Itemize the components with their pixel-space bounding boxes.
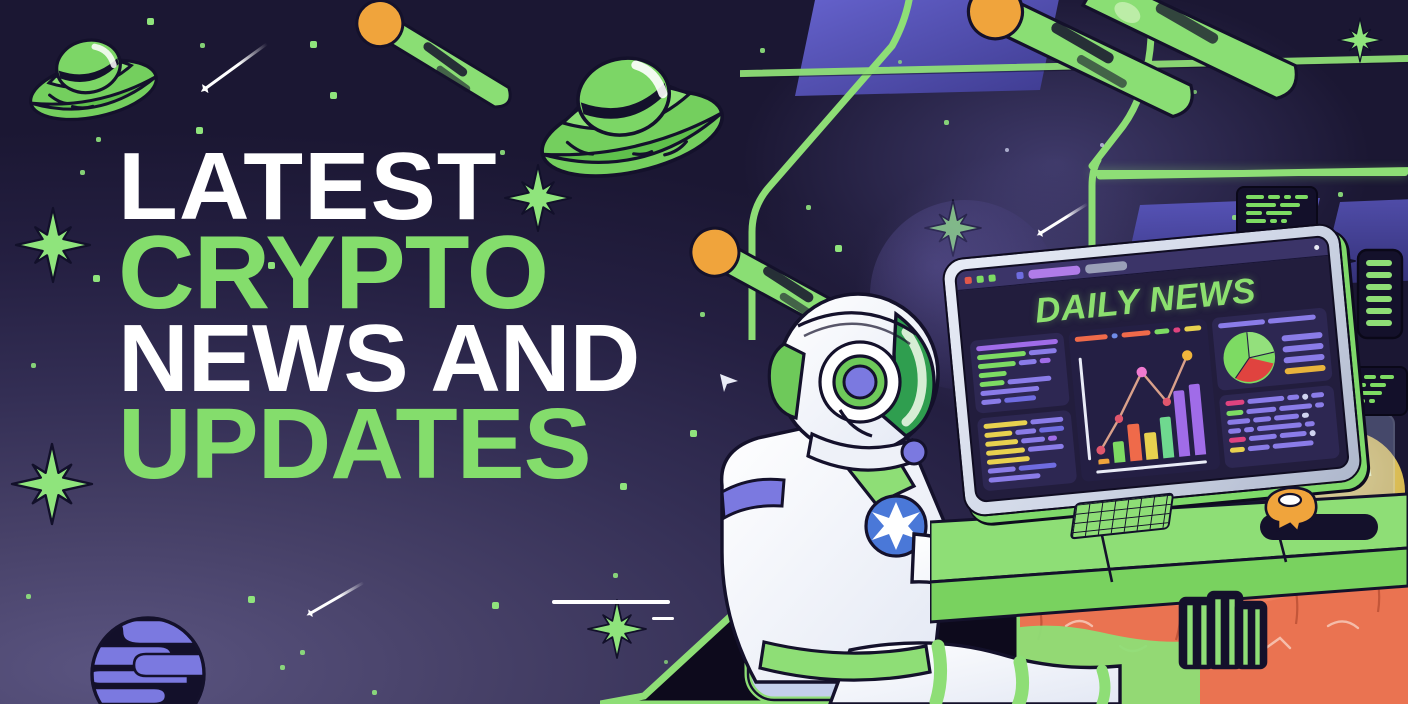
dashboard-body: [962, 301, 1348, 499]
dashboard-center-column: [1068, 319, 1221, 482]
star-dot: [200, 43, 205, 48]
green-canisters: [1178, 586, 1274, 670]
star-dot: [31, 363, 36, 368]
star-dot: [492, 602, 499, 609]
star-dot: [898, 60, 902, 64]
star-dot: [26, 594, 31, 599]
allocation-pie-chart: [1219, 327, 1280, 388]
star-dot: [80, 170, 85, 175]
star-dot: [280, 665, 285, 670]
star-dot: [96, 137, 101, 142]
comet-mid-right: [1030, 0, 1320, 140]
star-dot: [310, 41, 317, 48]
station-beam-horizontal: [1090, 170, 1408, 176]
star-dot: [372, 690, 377, 695]
sparkle-star-icon: [1338, 18, 1382, 62]
alerts-panel[interactable]: [977, 410, 1077, 492]
ticker-table-panel[interactable]: [1219, 385, 1340, 468]
banner-canvas: LATEST CRYPTO NEWS AND UPDATES: [0, 0, 1408, 704]
comet-top-left: [330, 0, 530, 130]
market-trend-markers: [1078, 339, 1212, 473]
orange-desk-gadget: [1258, 480, 1324, 536]
chart-plot-area: [1078, 339, 1211, 465]
headline-line-4: UPDATES: [118, 401, 639, 487]
ufo-top-left: [22, 28, 162, 134]
window-maximize-dot[interactable]: [988, 274, 996, 282]
menu-dot[interactable]: [1314, 244, 1319, 249]
sparkle-star-icon: [16, 208, 90, 282]
star-dot: [806, 205, 811, 210]
star-dot: [248, 596, 255, 603]
star-dot: [93, 275, 100, 282]
dashboard-left-column: [969, 332, 1077, 491]
monitor-screen: DAILY NEWS: [954, 235, 1350, 503]
allocation-panel[interactable]: [1212, 307, 1333, 390]
tab-indicator[interactable]: [1016, 271, 1024, 279]
star-dot: [1338, 192, 1343, 197]
dashboard-right-column: [1212, 307, 1341, 468]
star-dot: [690, 430, 697, 437]
star-dot: [147, 18, 154, 25]
monitor[interactable]: DAILY NEWS: [941, 222, 1364, 518]
news-list-panel[interactable]: [969, 332, 1069, 414]
secondary-bar[interactable]: [1085, 260, 1128, 273]
sparkle-star-icon: [12, 444, 92, 524]
star-dot: [760, 48, 765, 53]
window-minimize-dot[interactable]: [976, 275, 984, 283]
address-bar[interactable]: [1028, 265, 1081, 279]
market-chart-panel[interactable]: [1068, 319, 1221, 482]
striped-planet: [88, 614, 208, 704]
headline: LATEST CRYPTO NEWS AND UPDATES: [118, 146, 629, 487]
window-close-dot[interactable]: [964, 276, 972, 284]
star-dot: [300, 650, 305, 655]
server-rack-icon: [1356, 248, 1408, 340]
